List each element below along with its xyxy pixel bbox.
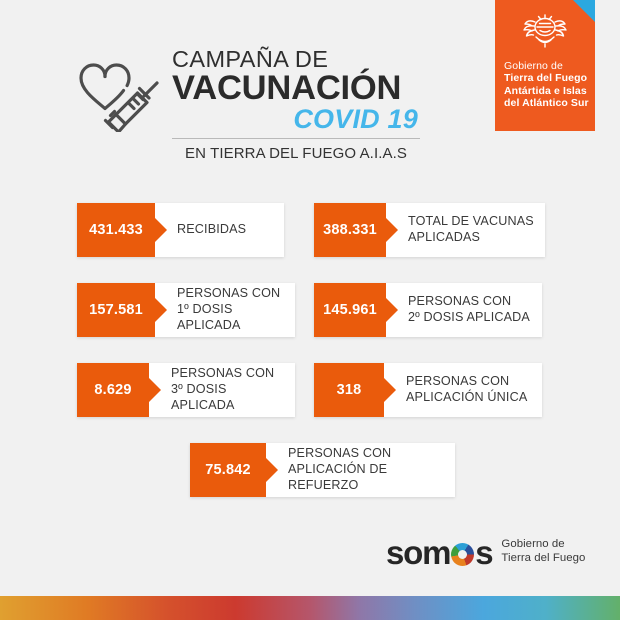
stat-value-box: 145.961 [314,283,386,337]
stat-label-box: RECIBIDAS [155,203,284,257]
stat-value: 157.581 [83,302,149,318]
somos-footer-logo: som s Gobierno de Tierra del Fuego [386,533,585,571]
stat-label-box: PERSONAS CON 2º DOSIS APLICADA [386,283,542,337]
gov-line-tierra-del-fuego: Tierra del Fuego [504,72,589,84]
somos-text-s: s [475,536,492,569]
infographic-page: CAMPAÑA DE VACUNACIÓN COVID 19 EN TIERRA… [0,0,620,620]
stat-value-box: 8.629 [77,363,149,417]
stat-label-box: PERSONAS CON 1º DOSIS APLICADA [155,283,295,337]
stat-value: 431.433 [83,222,149,238]
title-line-vacunacion: VACUNACIÓN [172,71,422,106]
stat-label: TOTAL DE VACUNAS APLICADAS [408,214,534,245]
stat-label: PERSONAS CON APLICACIÓN ÚNICA [406,374,527,405]
title-line-campana: CAMPAÑA DE [172,47,422,72]
heart-syringe-icon [75,52,165,132]
title-line-covid19: COVID 19 [172,105,422,133]
tierra-del-fuego-coat-of-arms-icon [522,8,568,52]
stat-label-box: TOTAL DE VACUNAS APLICADAS [386,203,545,257]
stat-value: 8.629 [88,382,137,398]
title-block: CAMPAÑA DE VACUNACIÓN COVID 19 EN TIERRA… [172,47,422,162]
stat-value-box: 388.331 [314,203,386,257]
gov-line-gobierno: Gobierno de [504,60,589,72]
stat-card-tercera-dosis: 8.629 PERSONAS CON 3º DOSIS APLICADA [77,363,295,417]
stat-label: PERSONAS CON APLICACIÓN DE REFUERZO [288,446,447,493]
somos-wordmark: som s [386,536,492,569]
stat-value: 145.961 [317,302,383,318]
government-badge-text: Gobierno de Tierra del Fuego Antártida e… [504,60,589,110]
stat-label: PERSONAS CON 2º DOSIS APLICADA [408,294,530,325]
stat-label-box: PERSONAS CON APLICACIÓN DE REFUERZO [266,443,455,497]
stat-label: RECIBIDAS [177,222,246,238]
somos-sub-line2: Tierra del Fuego [501,552,585,566]
somos-text-som: som [386,536,450,569]
government-badge: Gobierno de Tierra del Fuego Antártida e… [495,0,595,131]
title-subtitle-region: EN TIERRA DEL FUEGO A.I.A.S [172,145,420,162]
somos-sub-line1: Gobierno de [501,538,585,552]
stat-card-segunda-dosis: 145.961 PERSONAS CON 2º DOSIS APLICADA [314,283,542,337]
stat-value-box: 157.581 [77,283,155,337]
stat-card-total-vacunas-aplicadas: 388.331 TOTAL DE VACUNAS APLICADAS [314,203,545,257]
title-divider [172,138,420,139]
stat-value: 388.331 [317,222,383,238]
somos-subtitle: Gobierno de Tierra del Fuego [501,538,585,566]
stat-value-box: 75.842 [190,443,266,497]
gov-line-atlantico-sur: del Atlántico Sur [504,97,589,109]
stat-label-box: PERSONAS CON APLICACIÓN ÚNICA [384,363,542,417]
header: CAMPAÑA DE VACUNACIÓN COVID 19 EN TIERRA… [0,0,495,175]
stat-card-primera-dosis: 157.581 PERSONAS CON 1º DOSIS APLICADA [77,283,295,337]
stat-card-recibidas: 431.433 RECIBIDAS [77,203,284,257]
stat-card-aplicacion-unica: 318 PERSONAS CON APLICACIÓN ÚNICA [314,363,542,417]
stat-label: PERSONAS CON 3º DOSIS APLICADA [171,366,287,413]
stat-value: 318 [331,382,368,398]
stat-card-aplicacion-de-refuerzo: 75.842 PERSONAS CON APLICACIÓN DE REFUER… [190,443,455,497]
corner-fold-decoration [573,0,595,22]
stat-label-box: PERSONAS CON 3º DOSIS APLICADA [149,363,295,417]
gov-line-antartida: Antártida e Islas [504,85,589,97]
stat-value-box: 431.433 [77,203,155,257]
somos-ring-logo-icon [451,543,474,566]
bottom-gradient-strip [0,596,620,620]
stat-value-box: 318 [314,363,384,417]
stat-label: PERSONAS CON 1º DOSIS APLICADA [177,286,287,333]
stat-value: 75.842 [199,462,257,478]
